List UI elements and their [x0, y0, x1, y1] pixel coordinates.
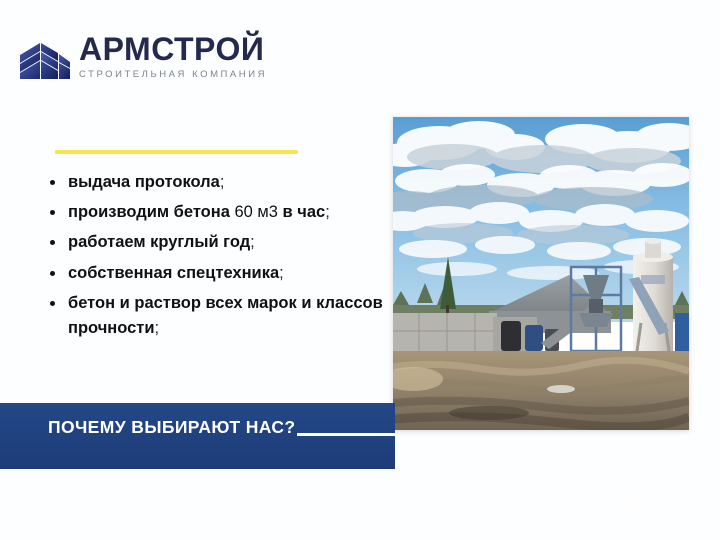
- feature-tail: ;: [155, 319, 160, 337]
- feature-tail: ;: [325, 203, 330, 221]
- avito-watermark: Avito: [620, 494, 706, 524]
- building-chart-logo-icon: [18, 37, 72, 81]
- feature-volume-value: 60 м3: [234, 203, 277, 221]
- feature-text-pre: производим бетона: [68, 203, 234, 221]
- list-item: бетон и раствор всех марок и классов про…: [44, 291, 384, 341]
- list-item: выдача протокола;: [44, 170, 384, 195]
- feature-text-post: в час: [278, 203, 325, 221]
- feature-text: бетон и раствор всех марок и классов про…: [68, 294, 383, 337]
- concrete-batching-plant-photo: [393, 117, 689, 430]
- brand-logo[interactable]: АРМСТРОЙ СТРОИТЕЛЬНАЯ КОМПАНИЯ: [18, 33, 267, 81]
- list-item: работаем круглый год;: [44, 230, 384, 255]
- list-item: производим бетона 60 м3 в час;: [44, 200, 384, 225]
- page-title: ПОЧЕМУ ВЫБИРАЮТ НАС?: [48, 413, 298, 441]
- slide-canvas: АРМСТРОЙ СТРОИТЕЛЬНАЯ КОМПАНИЯ выдача пр…: [0, 0, 720, 540]
- svg-text:Avito: Avito: [650, 497, 706, 523]
- brand-subtitle: СТРОИТЕЛЬНАЯ КОМПАНИЯ: [79, 70, 267, 80]
- list-item: собственная спецтехника;: [44, 261, 384, 286]
- features-list: выдача протокола; производим бетона 60 м…: [44, 170, 384, 346]
- feature-text: работаем круглый год: [68, 233, 250, 251]
- feature-text: выдача протокола: [68, 173, 220, 191]
- yellow-accent-rule: [55, 150, 298, 154]
- feature-tail: ;: [250, 233, 255, 251]
- banner-accent-rule: [297, 433, 395, 436]
- headline-banner: ПОЧЕМУ ВЫБИРАЮТ НАС?: [0, 403, 395, 469]
- brand-title: АРМСТРОЙ: [79, 33, 267, 65]
- feature-tail: ;: [220, 173, 225, 191]
- feature-tail: ;: [279, 264, 284, 282]
- feature-text: собственная спецтехника: [68, 264, 279, 282]
- photo-frame[interactable]: [393, 117, 689, 430]
